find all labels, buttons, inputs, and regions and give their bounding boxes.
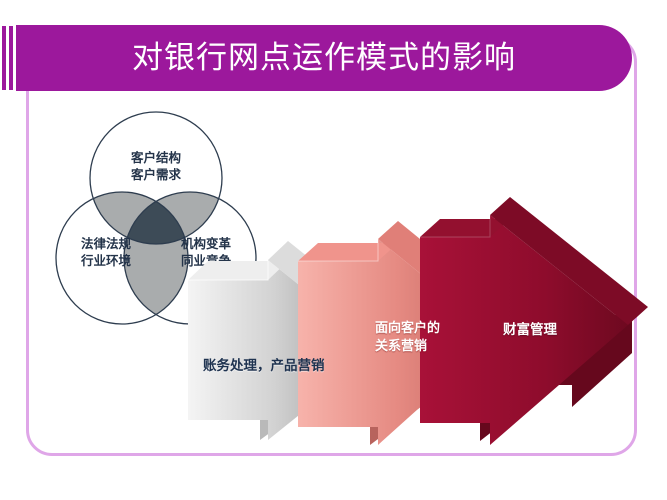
arrow-label-stage-3: 财富管理 [503, 321, 593, 340]
venn-label-top: 客户结构 客户需求 [108, 150, 204, 184]
venn-label-left: 法律法规 行业环境 [58, 236, 154, 270]
accent-bar-outer [2, 26, 6, 90]
arrow-label-stage-1: 账务处理，产品营销 [203, 357, 368, 376]
title-banner: 对银行网点运作模式的影响 [16, 25, 632, 91]
slide-canvas: 对银行网点运作模式的影响 [0, 0, 667, 500]
page-title: 对银行网点运作模式的影响 [132, 43, 516, 74]
accent-bar-inner [9, 26, 13, 90]
arrow-process-diagram [180, 195, 660, 440]
arrow-label-stage-2: 面向客户的 关系营销 [375, 320, 471, 356]
